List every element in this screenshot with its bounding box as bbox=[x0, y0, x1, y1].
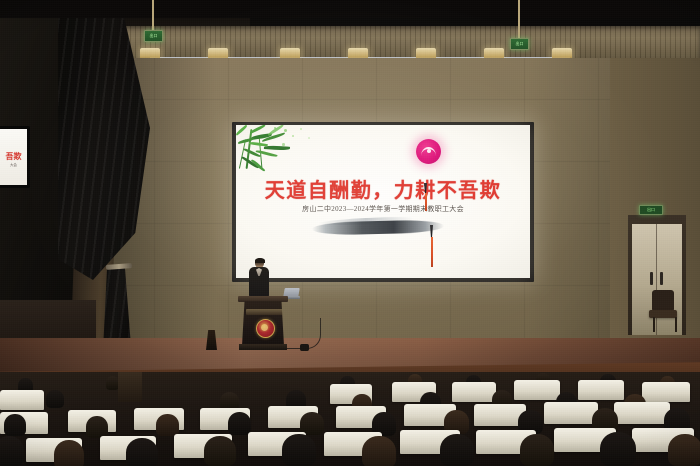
audience-seat bbox=[452, 382, 496, 402]
chair-legs bbox=[653, 317, 677, 332]
podium-nameplate bbox=[246, 309, 284, 315]
audience-seat bbox=[614, 402, 670, 424]
audience-seat bbox=[514, 380, 560, 400]
audience-seat bbox=[544, 402, 598, 424]
school-logo bbox=[416, 139, 441, 164]
side-monitor-display: 吾欺 大会 bbox=[0, 129, 27, 185]
cable-floor-box bbox=[300, 344, 309, 351]
podium-front-panel bbox=[242, 301, 284, 346]
audience-member bbox=[440, 434, 474, 466]
side-monitor-subtitle: 大会 bbox=[0, 163, 27, 168]
audience-member bbox=[668, 434, 700, 466]
calligraphy-brush-upper bbox=[422, 183, 429, 203]
audience-member bbox=[46, 390, 64, 408]
audience-seat bbox=[578, 380, 624, 400]
school-seal-emblem bbox=[256, 319, 275, 338]
podium-base bbox=[239, 344, 287, 350]
calligraphy-brush bbox=[428, 225, 435, 247]
presenter-hair bbox=[255, 258, 265, 263]
bamboo-speck bbox=[300, 128, 302, 130]
stage-curtain-left bbox=[58, 18, 166, 338]
audience-member bbox=[54, 440, 84, 466]
curtain-tieback bbox=[106, 263, 132, 270]
bamboo-speck bbox=[282, 143, 285, 146]
audience-member bbox=[156, 414, 179, 436]
auditorium-photo: 出口 出口 出口 吾欺 大会 bbox=[0, 0, 700, 466]
audience-member bbox=[86, 416, 108, 438]
ceiling-upper-dark bbox=[0, 0, 700, 18]
logo-emblem-mark bbox=[421, 146, 436, 157]
projection-screen: 天道自酬勤，力耕不吾欺 房山二中2023—2024学年第一学期期末教职工大会 bbox=[236, 125, 530, 278]
bamboo-speck bbox=[292, 135, 294, 137]
presenter bbox=[248, 258, 270, 300]
audience-seat bbox=[0, 390, 44, 410]
side-monitor-title: 吾欺 bbox=[0, 151, 27, 162]
audience-seat bbox=[642, 382, 690, 402]
speaking-podium bbox=[240, 296, 286, 350]
audience-member bbox=[204, 436, 236, 466]
side-chair bbox=[648, 290, 678, 332]
door-handle-right[interactable] bbox=[660, 272, 663, 285]
brush-handle bbox=[425, 193, 427, 211]
bamboo-leaf bbox=[264, 145, 290, 150]
slide-subtitle: 房山二中2023—2024学年第一学期期末教职工大会 bbox=[236, 204, 530, 214]
audience-member bbox=[600, 432, 636, 466]
bamboo-speck bbox=[284, 129, 287, 132]
bamboo-speck bbox=[308, 137, 310, 139]
door-handle-left[interactable] bbox=[650, 272, 653, 285]
audience-member bbox=[4, 414, 26, 436]
audience-member bbox=[520, 434, 554, 466]
audience-seating-area bbox=[0, 372, 700, 466]
brush-handle bbox=[431, 237, 433, 267]
curtain-fold-texture bbox=[58, 18, 150, 280]
bamboo-leaf bbox=[249, 125, 266, 134]
bamboo-leaf bbox=[236, 125, 248, 136]
curtain-drape bbox=[58, 18, 150, 280]
chair-back bbox=[652, 290, 674, 312]
exit-sign-hanger-right bbox=[518, 0, 520, 38]
exit-sign-door: 出口 bbox=[639, 205, 663, 215]
audience-member bbox=[126, 438, 158, 466]
aisle-step bbox=[118, 372, 142, 402]
audience-member bbox=[0, 436, 24, 466]
exit-sign-right: 出口 bbox=[510, 38, 529, 50]
audience-member bbox=[362, 436, 396, 466]
slide-title: 天道自酬勤，力耕不吾欺 bbox=[236, 174, 530, 203]
audience-member bbox=[228, 412, 251, 435]
audience-member bbox=[282, 434, 316, 466]
